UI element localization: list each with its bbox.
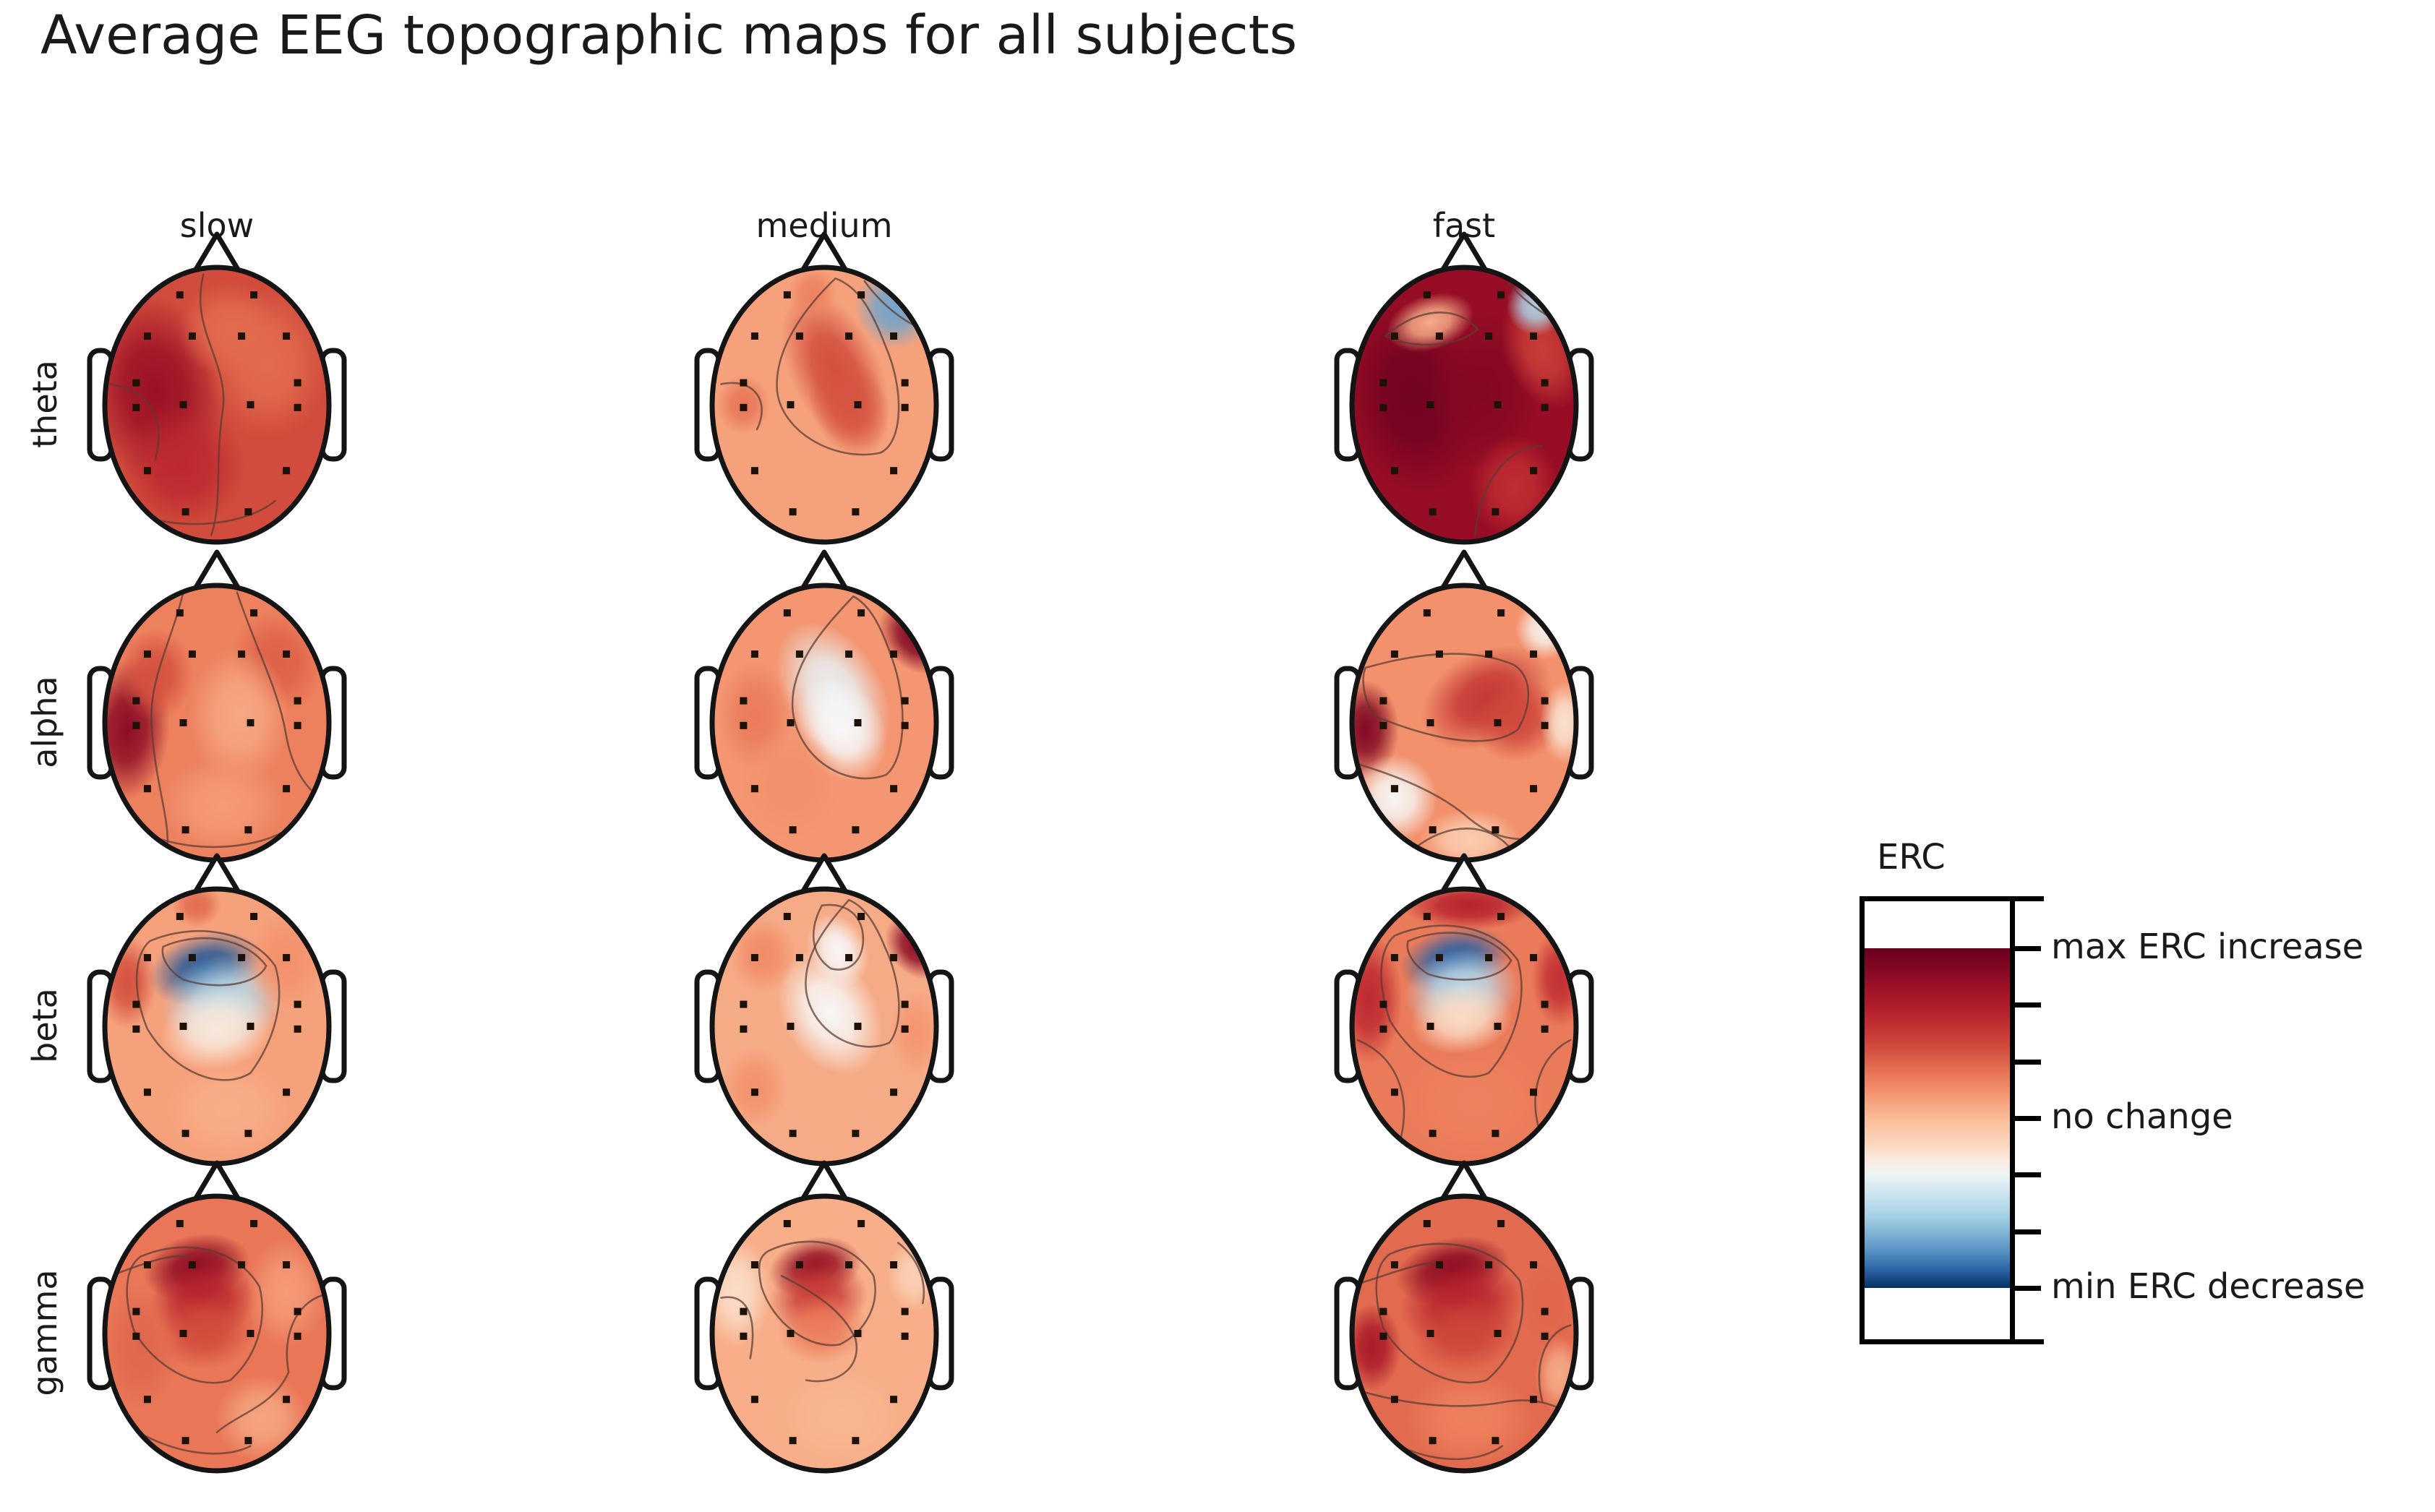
colorbar-tick <box>2012 1060 2041 1065</box>
colorbar-tick <box>2012 1229 2041 1234</box>
colorbar-tick-label: no change <box>2051 1099 2233 1134</box>
colorbar-tick <box>2012 1116 2041 1121</box>
colorbar-tick-label: max ERC increase <box>2051 929 2363 964</box>
colorbar-endcap <box>1860 1339 2044 1344</box>
colorbar: ERC max ERC increaseno changemin ERC dec… <box>0 0 2435 1469</box>
colorbar-endcap <box>1860 896 2044 901</box>
colorbar-tick <box>2012 946 2041 951</box>
colorbar-tick <box>2012 1286 2041 1291</box>
colorbar-tick <box>2012 1172 2041 1177</box>
colorbar-tick-label: min ERC decrease <box>2051 1269 2365 1304</box>
colorbar-title: ERC <box>1877 837 1946 877</box>
colorbar-frame <box>1860 896 2015 1344</box>
eeg-topomap-figure: Average EEG topographic maps for all sub… <box>0 0 2435 1469</box>
colorbar-gradient <box>1865 948 2010 1288</box>
colorbar-tick <box>2012 1002 2041 1008</box>
